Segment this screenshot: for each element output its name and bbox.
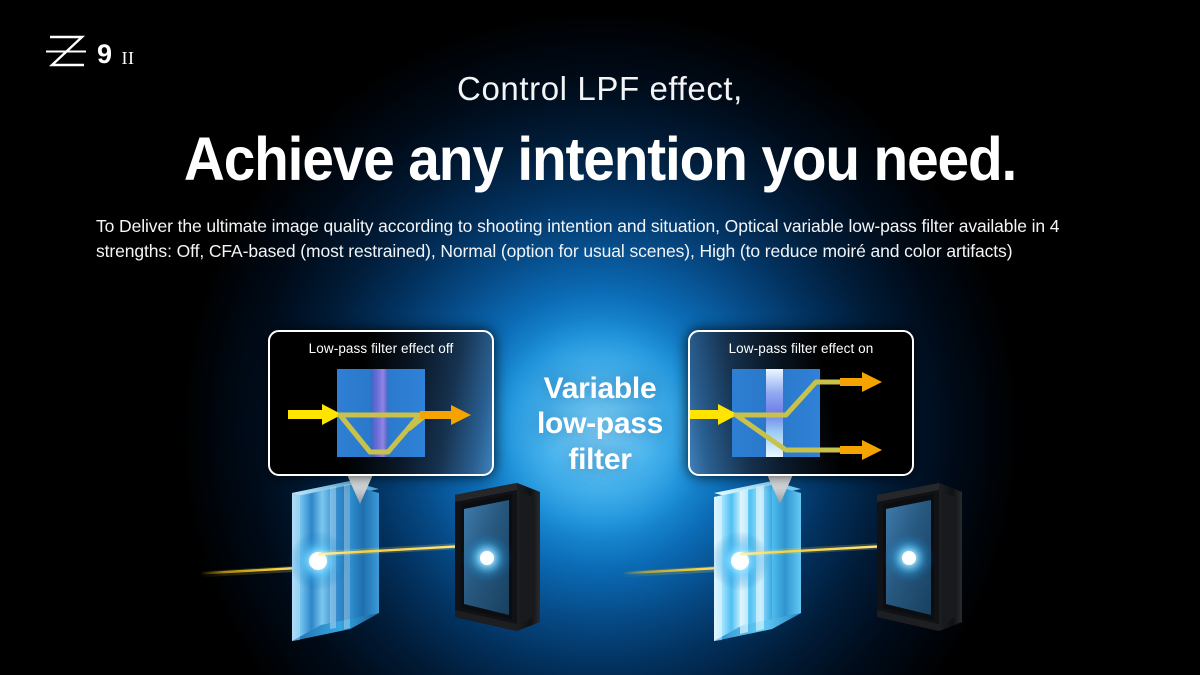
center-label: Variable low-pass filter — [537, 371, 663, 477]
lpf-on-outgoing-arrow-top — [840, 372, 882, 392]
lpf-off-outgoing-arrow — [420, 405, 471, 425]
slide-canvas: 9 II Control LPF effect, Achieve any int… — [0, 0, 1200, 675]
right-filter-block — [714, 481, 801, 641]
right-image-sensor — [877, 483, 962, 631]
lpf-on-outgoing-arrow-bottom — [840, 440, 882, 460]
right-beam-hotspot — [710, 531, 770, 591]
lpf-on-diagram — [690, 360, 912, 472]
brand-model: 9 — [97, 41, 113, 68]
lpf-off-incoming-arrow — [288, 404, 342, 425]
callout-panel-on-title: Low-pass filter effect on — [690, 341, 912, 356]
brand-logo: 9 II — [44, 32, 135, 70]
left-beam-hotspot — [288, 531, 348, 591]
right-beam-incoming — [622, 565, 734, 577]
callout-panel-on: Low-pass filter effect on — [688, 330, 914, 476]
brand-series: II — [122, 49, 135, 67]
left-image-sensor — [455, 483, 540, 631]
nikon-z-logo-icon — [44, 32, 88, 70]
kicker-text: Control LPF effect, — [0, 70, 1200, 108]
lpf-off-diagram — [270, 360, 492, 472]
left-beam-outgoing — [318, 543, 468, 557]
right-beam-outgoing — [740, 543, 890, 557]
page-title: Achieve any intention you need. — [42, 124, 1158, 194]
lpf-on-incoming-arrow — [690, 404, 738, 425]
callout-panel-off: Low-pass filter effect off — [268, 330, 494, 476]
description-text: To Deliver the ultimate image quality ac… — [96, 214, 1104, 264]
callout-panel-off-title: Low-pass filter effect off — [270, 341, 492, 356]
left-beam-incoming — [200, 565, 312, 577]
left-filter-block — [292, 481, 379, 645]
